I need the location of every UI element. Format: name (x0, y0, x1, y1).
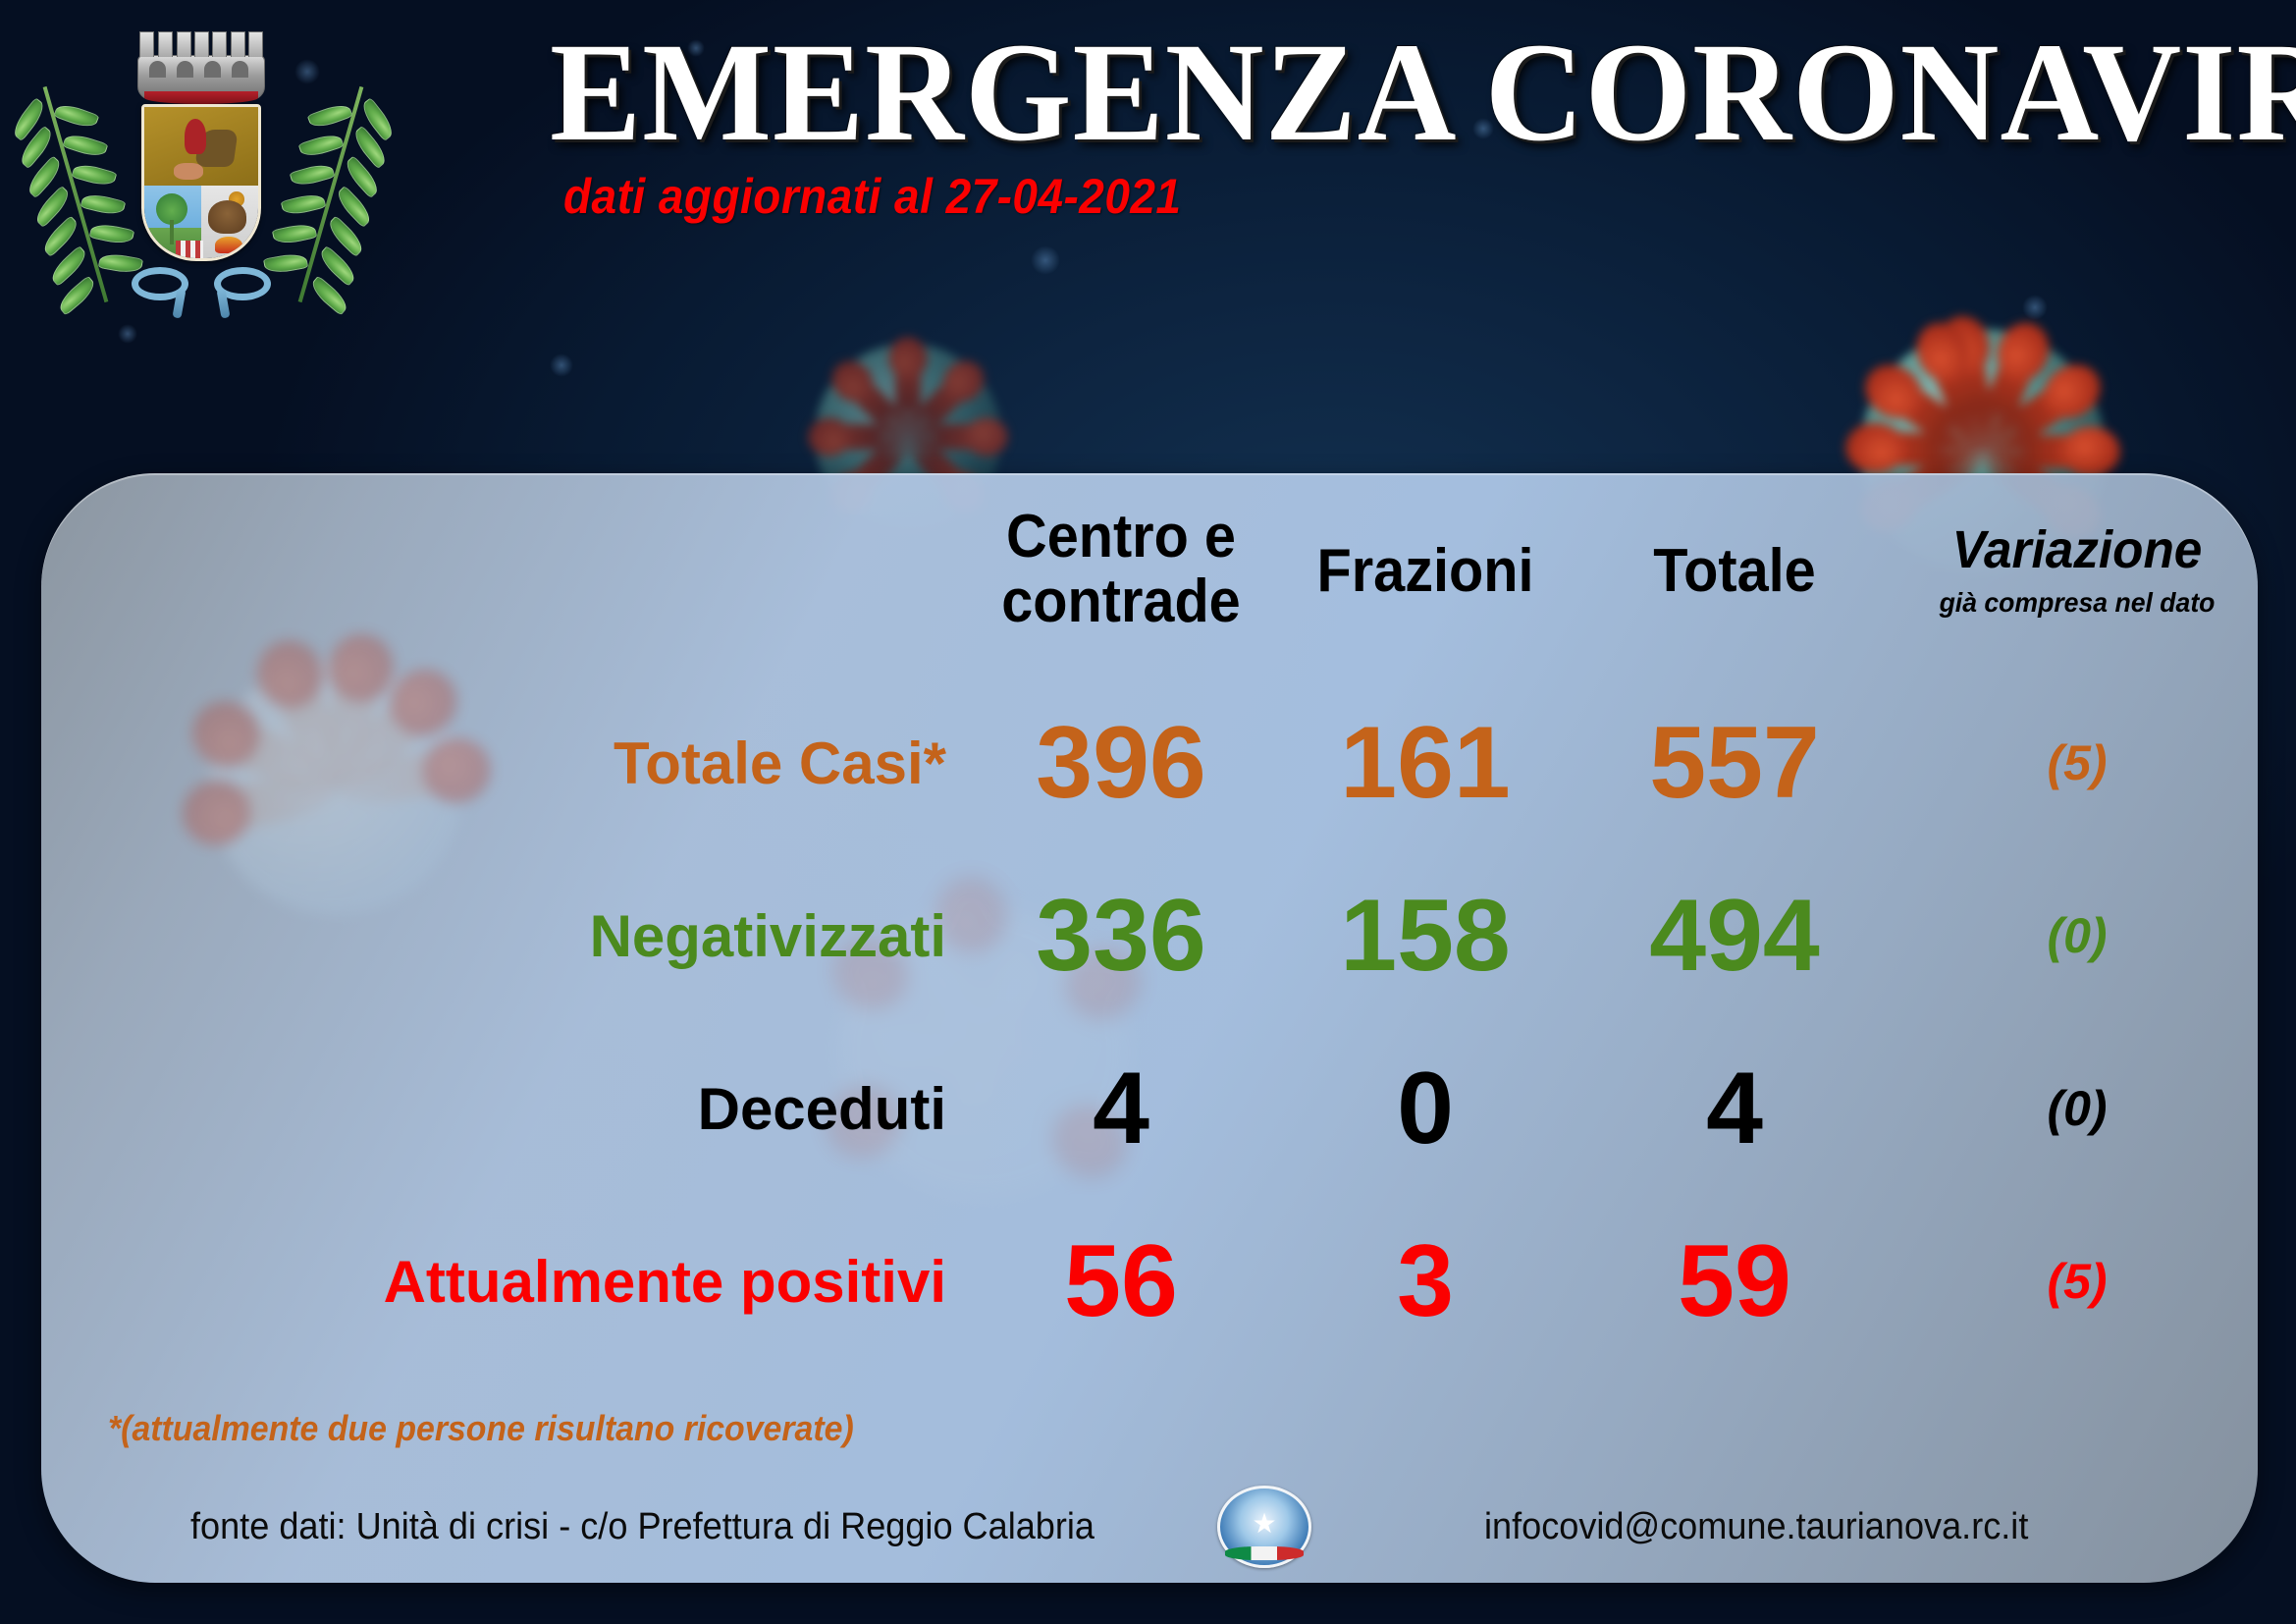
contact-email[interactable]: infocovid@comune.taurianova.rc.it (1484, 1506, 2028, 1548)
heraldic-shield-icon (141, 104, 261, 261)
row-value-totale: 4 (1573, 1057, 1896, 1160)
header-cell-variazione: Variazione già compresa nel dato (1896, 523, 2258, 619)
header-centro-line1: Centro e (975, 505, 1267, 569)
row-label: Totale Casi* (614, 731, 946, 796)
background-speck (2022, 295, 2048, 320)
row-value-totale: 494 (1573, 885, 1896, 987)
row-value-frazioni: 0 (1278, 1057, 1573, 1160)
header-variazione-sublabel: già compresa nel dato (1905, 586, 2249, 619)
panel-footer: fonte dati: Unità di crisi - c/o Prefett… (41, 1483, 2258, 1571)
header-cell-totale: Totale (1573, 539, 1896, 604)
row-label-cell: Negativizzati (41, 902, 964, 970)
row-label-cell: Deceduti (41, 1075, 964, 1143)
background-speck (1031, 245, 1060, 275)
laurel-branch-right-icon (290, 83, 372, 304)
row-label: Attualmente positivi (384, 1249, 946, 1315)
table-header-row: Centro e contrade Frazioni Totale Variaz… (41, 473, 2258, 670)
row-value-variazione: (0) (1896, 911, 2258, 960)
background-speck (550, 353, 573, 377)
row-value-centro: 56 (964, 1230, 1278, 1332)
tree-charge-icon (156, 193, 187, 244)
row-value-centro: 4 (964, 1057, 1278, 1160)
flames-charge-icon (215, 237, 242, 253)
row-label: Deceduti (698, 1076, 946, 1142)
table-row: Totale Casi* 396 161 557 (5) (41, 670, 2258, 856)
update-date-subtitle: dati aggiornati al 27-04-2021 (563, 168, 1996, 225)
saint-george-knight-icon (174, 119, 236, 180)
page-title: EMERGENZA CORONAVIRUS (550, 22, 2073, 166)
footnote: *(attualmente due persone risultano rico… (108, 1408, 854, 1449)
header-totale-label: Totale (1584, 539, 1886, 604)
laurel-branch-left-icon (34, 83, 117, 304)
header-variazione-label: Variazione (1905, 523, 2249, 576)
header-cell-centro-e-contrade: Centro e contrade (964, 505, 1278, 637)
row-value-variazione: (0) (1896, 1084, 2258, 1133)
row-value-centro: 396 (964, 712, 1278, 814)
infographic-poster: EMERGENZA CORONAVIRUS dati aggiornati al… (0, 0, 2296, 1624)
row-value-variazione: (5) (1896, 1257, 2258, 1306)
header-frazioni-label: Frazioni (1289, 539, 1563, 604)
row-label-cell: Attualmente positivi (41, 1248, 964, 1316)
row-value-totale: 557 (1573, 712, 1896, 814)
table-row: Deceduti 4 0 4 (0) (41, 1015, 2258, 1202)
table-row: Attualmente positivi 56 3 59 (5) (41, 1188, 2258, 1375)
header-cell-frazioni: Frazioni (1278, 539, 1573, 604)
row-value-variazione: (5) (1896, 738, 2258, 787)
lozenge-pattern (176, 241, 203, 258)
row-value-centro: 336 (964, 885, 1278, 987)
data-panel: Centro e contrade Frazioni Totale Variaz… (41, 473, 2258, 1583)
data-source-text: fonte dati: Unità di crisi - c/o Prefett… (190, 1506, 1095, 1548)
row-value-totale: 59 (1573, 1230, 1896, 1332)
table-row: Negativizzati 336 158 494 (0) (41, 842, 2258, 1029)
poster-header: EMERGENZA CORONAVIRUS dati aggiornati al… (550, 22, 2120, 225)
header-centro-line2: contrade (975, 569, 1267, 634)
municipality-coat-of-arms (59, 18, 344, 312)
row-value-frazioni: 161 (1278, 712, 1573, 814)
eagle-charge-icon (208, 200, 246, 234)
row-value-frazioni: 3 (1278, 1230, 1573, 1332)
ribbon-icon (128, 267, 275, 318)
mural-crown-icon (137, 31, 265, 104)
row-label-cell: Totale Casi* (41, 730, 964, 797)
row-value-frazioni: 158 (1278, 885, 1573, 987)
row-label: Negativizzati (590, 903, 946, 969)
background-speck (118, 324, 137, 344)
ministry-of-interior-seal-icon: ★ (1217, 1486, 1311, 1568)
